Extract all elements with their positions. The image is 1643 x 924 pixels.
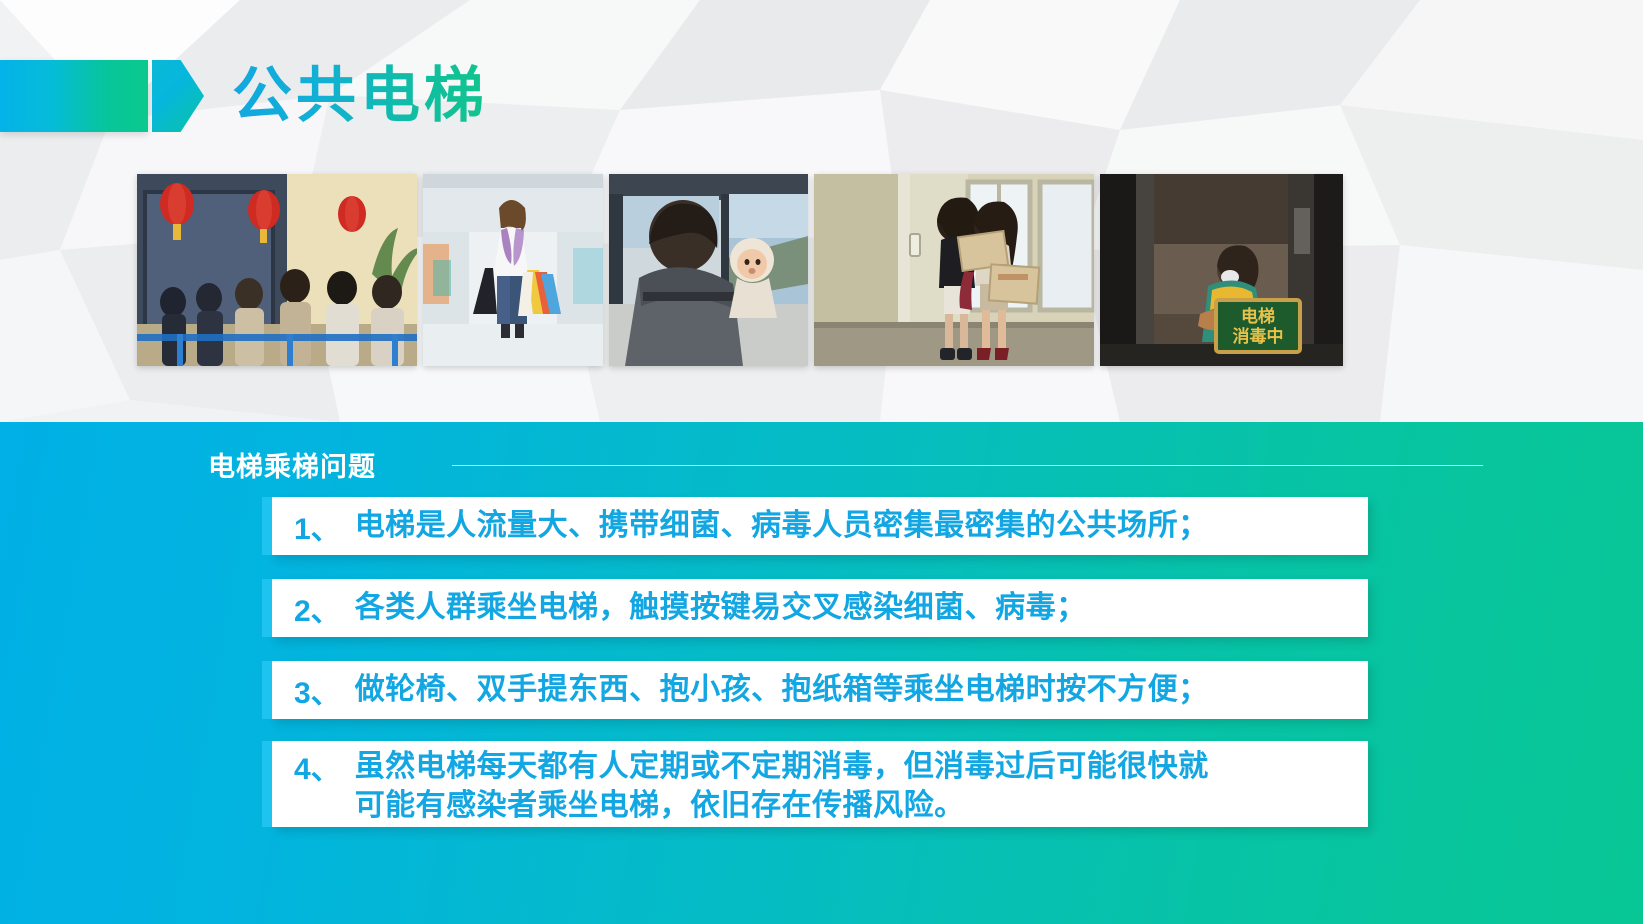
issue-bar[interactable]: 2、 各类人群乘坐电梯，触摸按键易交叉感染细菌、病毒； xyxy=(272,579,1368,637)
photo-strip: 电梯 消毒中 xyxy=(137,174,1387,366)
issue-row: 4、 虽然电梯每天都有人定期或不定期消毒，但消毒过后可能很快就 可能有感染者乘坐… xyxy=(282,744,1225,825)
issue-text: 各类人群乘坐电梯，触摸按键易交叉感染细菌、病毒； xyxy=(343,588,1103,628)
issue-number: 4、 xyxy=(282,744,343,788)
issue-text: 电梯是人流量大、携带细菌、病毒人员密集最密集的公共场所； xyxy=(343,506,1225,546)
photo-man-holding-baby xyxy=(609,174,808,366)
svg-text:电梯: 电梯 xyxy=(1241,306,1275,327)
issue-row: 3、 做轮椅、双手提东西、抱小孩、抱纸箱等乘坐电梯时按不方便； xyxy=(282,668,1225,712)
badge-arrowhead-shape xyxy=(152,60,204,132)
issue-number: 2、 xyxy=(282,586,343,630)
photo-elevator-disinfection: 电梯 消毒中 xyxy=(1100,174,1343,366)
issue-bar[interactable]: 4、 虽然电梯每天都有人定期或不定期消毒，但消毒过后可能很快就 可能有感染者乘坐… xyxy=(272,741,1368,827)
section-header: 电梯乘梯问题 xyxy=(208,445,1483,484)
title-badge-arrow xyxy=(0,60,205,132)
slide-header-area: 公共电梯 xyxy=(0,0,1643,422)
photo-queue-lobby xyxy=(137,174,417,366)
issues-panel: 电梯乘梯问题 1、 电梯是人流量大、携带细菌、病毒人员密集最密集的公共场所； 2… xyxy=(0,422,1643,924)
section-title: 电梯乘梯问题 xyxy=(208,445,376,484)
issue-number: 3、 xyxy=(282,668,343,712)
issue-text: 做轮椅、双手提东西、抱小孩、抱纸箱等乘坐电梯时按不方便； xyxy=(343,670,1225,710)
badge-bar-shape xyxy=(0,60,148,132)
issue-bar[interactable]: 1、 电梯是人流量大、携带细菌、病毒人员密集最密集的公共场所； xyxy=(272,497,1368,555)
issue-text: 虽然电梯每天都有人定期或不定期消毒，但消毒过后可能很快就 可能有感染者乘坐电梯，… xyxy=(343,744,1225,825)
photo-shopper-corridor xyxy=(423,174,603,366)
page-title: 公共电梯 xyxy=(232,52,488,140)
issue-row: 1、 电梯是人流量大、携带细菌、病毒人员密集最密集的公共场所； xyxy=(282,504,1225,548)
issue-bar[interactable]: 3、 做轮椅、双手提东西、抱小孩、抱纸箱等乘坐电梯时按不方便； xyxy=(272,661,1368,719)
photo-women-with-boxes xyxy=(814,174,1094,366)
issue-number: 1、 xyxy=(282,504,343,548)
issue-row: 2、 各类人群乘坐电梯，触摸按键易交叉感染细菌、病毒； xyxy=(282,586,1103,630)
section-divider xyxy=(452,465,1483,466)
svg-text:消毒中: 消毒中 xyxy=(1233,326,1284,347)
